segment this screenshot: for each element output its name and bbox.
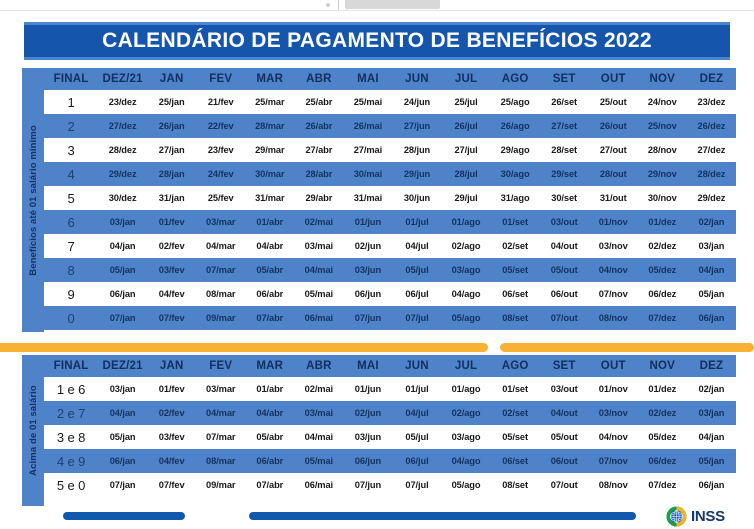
cell-final-digit: 2 [44, 114, 98, 138]
cell-final-digit: 2 e 7 [44, 401, 98, 425]
cell-payment-date: 26/ago [491, 114, 540, 138]
cell-payment-date: 03/jan [98, 377, 147, 401]
cell-payment-date: 07/mar [196, 425, 245, 449]
cell-payment-date: 30/set [540, 186, 589, 210]
cell-payment-date: 31/mai [343, 186, 392, 210]
table-row: 2 e 704/jan02/fev04/mar04/abr03/mai02/ju… [44, 401, 736, 425]
cell-payment-date: 05/jul [392, 425, 441, 449]
cell-payment-date: 03/jan [687, 234, 736, 258]
cell-payment-date: 30/mar [245, 162, 294, 186]
divider-bars [0, 343, 754, 353]
cell-payment-date: 04/jan [687, 425, 736, 449]
table-header-row: FINAL DEZ/21 JAN FEV MAR ABR MAI JUN JUL… [44, 68, 736, 90]
cell-payment-date: 03/jun [343, 258, 392, 282]
column-header-jan: JAN [147, 355, 196, 377]
cell-payment-date: 30/dez [98, 186, 147, 210]
cell-payment-date: 04/jan [687, 258, 736, 282]
cell-payment-date: 29/abr [294, 186, 343, 210]
table-row: 5 e 007/jan07/fev09/mar07/abr06/mai07/ju… [44, 473, 736, 497]
column-header-mar: MAR [245, 68, 294, 90]
cell-payment-date: 03/mar [196, 377, 245, 401]
cell-payment-date: 06/mai [294, 473, 343, 497]
cell-payment-date: 01/ago [442, 377, 491, 401]
column-header-jul: JUL [442, 355, 491, 377]
column-header-set: SET [540, 68, 589, 90]
cell-payment-date: 04/abr [245, 401, 294, 425]
cell-payment-date: 08/mar [196, 282, 245, 306]
side-label-text: Acima de 01 salário [28, 385, 39, 476]
cell-final-digit: 5 [44, 186, 98, 210]
cell-payment-date: 21/fev [196, 90, 245, 114]
cell-payment-date: 27/abr [294, 138, 343, 162]
cell-payment-date: 02/set [491, 234, 540, 258]
cell-payment-date: 01/jun [343, 210, 392, 234]
column-header-jul: JUL [442, 68, 491, 90]
inss-globe-icon [666, 506, 687, 527]
cell-payment-date: 28/jan [147, 162, 196, 186]
cell-final-digit: 3 [44, 138, 98, 162]
title-banner: CALENDÁRIO DE PAGAMENTO DE BENEFÍCIOS 20… [24, 22, 730, 60]
cell-payment-date: 06/out [540, 282, 589, 306]
cell-payment-date: 29/jul [442, 186, 491, 210]
cell-payment-date: 04/fev [147, 282, 196, 306]
divider-bar-left [0, 343, 488, 352]
cell-payment-date: 07/fev [147, 473, 196, 497]
cell-payment-date: 03/out [540, 210, 589, 234]
cell-payment-date: 30/jun [392, 186, 441, 210]
cell-payment-date: 05/abr [245, 425, 294, 449]
cell-payment-date: 04/mar [196, 401, 245, 425]
cell-payment-date: 25/jul [442, 90, 491, 114]
cell-payment-date: 02/fev [147, 234, 196, 258]
calendar-table-1: FINAL DEZ/21 JAN FEV MAR ABR MAI JUN JUL… [44, 68, 736, 330]
cell-payment-date: 03/nov [589, 234, 638, 258]
cell-payment-date: 25/abr [294, 90, 343, 114]
cell-payment-date: 23/fev [196, 138, 245, 162]
cell-payment-date: 03/fev [147, 425, 196, 449]
cell-payment-date: 26/mai [343, 114, 392, 138]
cell-payment-date: 07/jun [343, 306, 392, 330]
column-header-final: FINAL [44, 355, 98, 377]
table-row: 123/dez25/jan21/fev25/mar25/abr25/mai24/… [44, 90, 736, 114]
table-row: 805/jan03/fev07/mar05/abr04/mai03/jun05/… [44, 258, 736, 282]
cell-payment-date: 02/dez [638, 401, 687, 425]
inss-logo: INSS [666, 506, 725, 527]
table-row: 429/dez28/jan24/fev30/mar28/abr30/mai29/… [44, 162, 736, 186]
cell-payment-date: 24/jun [392, 90, 441, 114]
cell-payment-date: 07/dez [638, 473, 687, 497]
cell-payment-date: 28/jun [392, 138, 441, 162]
cell-final-digit: 1 e 6 [44, 377, 98, 401]
cell-payment-date: 06/jan [98, 282, 147, 306]
cell-payment-date: 26/out [589, 114, 638, 138]
cell-payment-date: 05/out [540, 425, 589, 449]
cell-payment-date: 03/fev [147, 258, 196, 282]
cell-payment-date: 27/jul [442, 138, 491, 162]
column-header-abr: ABR [294, 68, 343, 90]
cell-payment-date: 02/ago [442, 234, 491, 258]
column-header-jun: JUN [392, 355, 441, 377]
cell-payment-date: 04/ago [442, 282, 491, 306]
cell-payment-date: 02/jun [343, 401, 392, 425]
column-header-mai: MAI [343, 68, 392, 90]
cell-payment-date: 06/dez [638, 282, 687, 306]
cell-payment-date: 28/abr [294, 162, 343, 186]
cell-payment-date: 03/mai [294, 401, 343, 425]
cell-payment-date: 07/out [540, 473, 589, 497]
cell-payment-date: 26/jan [147, 114, 196, 138]
cell-payment-date: 04/fev [147, 449, 196, 473]
cell-payment-date: 27/dez [687, 138, 736, 162]
cell-payment-date: 06/jan [98, 449, 147, 473]
cell-payment-date: 04/mai [294, 258, 343, 282]
cell-payment-date: 01/nov [589, 210, 638, 234]
calendar-poster: CALENDÁRIO DE PAGAMENTO DE BENEFÍCIOS 20… [0, 12, 754, 529]
cell-final-digit: 6 [44, 210, 98, 234]
cell-payment-date: 25/out [589, 90, 638, 114]
cell-payment-date: 02/jan [687, 210, 736, 234]
cell-payment-date: 04/jul [392, 234, 441, 258]
cell-payment-date: 07/jan [98, 306, 147, 330]
cell-payment-date: 05/out [540, 258, 589, 282]
cell-payment-date: 01/dez [638, 377, 687, 401]
cell-payment-date: 04/ago [442, 449, 491, 473]
cell-payment-date: 07/nov [589, 282, 638, 306]
cell-payment-date: 03/nov [589, 401, 638, 425]
cell-payment-date: 28/set [540, 138, 589, 162]
cell-payment-date: 29/jun [392, 162, 441, 186]
cell-payment-date: 06/jul [392, 282, 441, 306]
cell-payment-date: 01/jun [343, 377, 392, 401]
cell-payment-date: 23/dez [687, 90, 736, 114]
cell-payment-date: 29/ago [491, 138, 540, 162]
cell-payment-date: 02/mai [294, 210, 343, 234]
cell-payment-date: 28/mar [245, 114, 294, 138]
cell-payment-date: 05/mai [294, 282, 343, 306]
cell-payment-date: 04/jul [392, 401, 441, 425]
cell-payment-date: 02/jun [343, 234, 392, 258]
cell-payment-date: 01/set [491, 210, 540, 234]
cell-payment-date: 01/dez [638, 210, 687, 234]
table-row: 906/jan04/fev08/mar06/abr05/mai06/jun06/… [44, 282, 736, 306]
cell-payment-date: 05/ago [442, 306, 491, 330]
cell-payment-date: 24/fev [196, 162, 245, 186]
cell-payment-date: 27/jun [392, 114, 441, 138]
cell-payment-date: 25/fev [196, 186, 245, 210]
cell-payment-date: 06/jun [343, 449, 392, 473]
cell-final-digit: 7 [44, 234, 98, 258]
cell-payment-date: 29/dez [98, 162, 147, 186]
cell-payment-date: 05/set [491, 425, 540, 449]
cell-payment-date: 07/nov [589, 449, 638, 473]
cell-payment-date: 08/nov [589, 473, 638, 497]
cell-payment-date: 09/mar [196, 473, 245, 497]
cell-payment-date: 22/fev [196, 114, 245, 138]
table-row: 1 e 603/jan01/fev03/mar01/abr02/mai01/ju… [44, 377, 736, 401]
cell-final-digit: 8 [44, 258, 98, 282]
column-header-out: OUT [589, 68, 638, 90]
cell-payment-date: 28/out [589, 162, 638, 186]
side-label-table-1: Benefícios até 01 salário mínimo [22, 68, 44, 332]
cell-payment-date: 03/mai [294, 234, 343, 258]
cell-payment-date: 05/abr [245, 258, 294, 282]
cell-payment-date: 01/jul [392, 377, 441, 401]
cell-final-digit: 5 e 0 [44, 473, 98, 497]
cell-payment-date: 23/dez [98, 90, 147, 114]
cell-payment-date: 25/jan [147, 90, 196, 114]
cell-payment-date: 04/jan [98, 401, 147, 425]
column-header-dez: DEZ [687, 355, 736, 377]
table-row: 4 e 906/jan04/fev08/mar06/abr05/mai06/ju… [44, 449, 736, 473]
cell-payment-date: 27/jan [147, 138, 196, 162]
cell-payment-date: 05/dez [638, 258, 687, 282]
divider-bar-right [500, 343, 754, 352]
column-header-mai: MAI [343, 355, 392, 377]
cell-payment-date: 06/mai [294, 306, 343, 330]
side-label-text: Benefícios até 01 salário mínimo [28, 125, 39, 276]
cell-final-digit: 4 e 9 [44, 449, 98, 473]
table-row: 007/jan07/fev09/mar07/abr06/mai07/jun07/… [44, 306, 736, 330]
cell-payment-date: 07/out [540, 306, 589, 330]
column-header-nov: NOV [638, 68, 687, 90]
cell-payment-date: 29/mar [245, 138, 294, 162]
cell-payment-date: 01/ago [442, 210, 491, 234]
column-header-dez21: DEZ/21 [98, 68, 147, 90]
cell-payment-date: 05/jan [687, 282, 736, 306]
table-row: 3 e 805/jan03/fev07/mar05/abr04/mai03/ju… [44, 425, 736, 449]
cell-payment-date: 06/set [491, 282, 540, 306]
cell-payment-date: 04/out [540, 401, 589, 425]
column-header-set: SET [540, 355, 589, 377]
cell-payment-date: 05/jul [392, 258, 441, 282]
cell-payment-date: 03/jan [687, 401, 736, 425]
cell-payment-date: 29/nov [638, 162, 687, 186]
cell-payment-date: 25/nov [638, 114, 687, 138]
cell-payment-date: 03/ago [442, 425, 491, 449]
cell-payment-date: 01/abr [245, 377, 294, 401]
table-row: 704/jan02/fev04/mar04/abr03/mai02/jun04/… [44, 234, 736, 258]
cell-payment-date: 03/jun [343, 425, 392, 449]
column-header-dez: DEZ [687, 68, 736, 90]
cell-payment-date: 07/jul [392, 306, 441, 330]
cell-payment-date: 05/mai [294, 449, 343, 473]
side-label-table-2: Acima de 01 salário [22, 355, 44, 506]
cell-payment-date: 25/mar [245, 90, 294, 114]
cell-payment-date: 06/abr [245, 449, 294, 473]
footer-bar-left [63, 512, 185, 520]
cell-payment-date: 30/ago [491, 162, 540, 186]
cell-payment-date: 31/jan [147, 186, 196, 210]
cell-payment-date: 07/abr [245, 473, 294, 497]
chrome-divider [338, 0, 339, 10]
cell-payment-date: 25/ago [491, 90, 540, 114]
cell-payment-date: 24/nov [638, 90, 687, 114]
table-header-row: FINAL DEZ/21 JAN FEV MAR ABR MAI JUN JUL… [44, 355, 736, 377]
cell-payment-date: 05/jan [98, 425, 147, 449]
table-row: 227/dez26/jan22/fev28/mar26/abr26/mai27/… [44, 114, 736, 138]
cell-payment-date: 06/dez [638, 449, 687, 473]
cell-payment-date: 29/dez [687, 186, 736, 210]
column-header-final: FINAL [44, 68, 98, 90]
cell-payment-date: 28/jul [442, 162, 491, 186]
cell-payment-date: 30/nov [638, 186, 687, 210]
cell-payment-date: 03/ago [442, 258, 491, 282]
cell-payment-date: 07/abr [245, 306, 294, 330]
calendar-table-2: FINAL DEZ/21 JAN FEV MAR ABR MAI JUN JUL… [44, 355, 736, 497]
cell-payment-date: 05/jan [687, 449, 736, 473]
cell-payment-date: 07/jul [392, 473, 441, 497]
cell-payment-date: 28/dez [687, 162, 736, 186]
cell-payment-date: 31/mar [245, 186, 294, 210]
cell-payment-date: 04/nov [589, 425, 638, 449]
cell-payment-date: 01/nov [589, 377, 638, 401]
column-header-ago: AGO [491, 355, 540, 377]
column-header-jun: JUN [392, 68, 441, 90]
cell-payment-date: 27/mai [343, 138, 392, 162]
cell-payment-date: 03/jan [98, 210, 147, 234]
browser-chrome-strip [0, 0, 754, 11]
cell-payment-date: 02/ago [442, 401, 491, 425]
cell-payment-date: 04/mar [196, 234, 245, 258]
cell-payment-date: 08/mar [196, 449, 245, 473]
page-title: CALENDÁRIO DE PAGAMENTO DE BENEFÍCIOS 20… [102, 29, 652, 53]
cell-payment-date: 03/out [540, 377, 589, 401]
cell-payment-date: 26/abr [294, 114, 343, 138]
cell-payment-date: 09/mar [196, 306, 245, 330]
cell-payment-date: 06/jan [687, 473, 736, 497]
calendar-table-2-body: 1 e 603/jan01/fev03/mar01/abr02/mai01/ju… [44, 377, 736, 497]
browser-tab[interactable] [345, 0, 440, 9]
cell-final-digit: 3 e 8 [44, 425, 98, 449]
cell-payment-date: 04/out [540, 234, 589, 258]
cell-payment-date: 03/mar [196, 210, 245, 234]
cell-payment-date: 01/set [491, 377, 540, 401]
cell-payment-date: 02/set [491, 401, 540, 425]
cell-payment-date: 25/mai [343, 90, 392, 114]
cell-payment-date: 06/jun [343, 282, 392, 306]
cell-payment-date: 07/jan [98, 473, 147, 497]
cell-payment-date: 30/mai [343, 162, 392, 186]
cell-payment-date: 07/jun [343, 473, 392, 497]
column-header-ago: AGO [491, 68, 540, 90]
cell-payment-date: 26/jul [442, 114, 491, 138]
cell-payment-date: 01/abr [245, 210, 294, 234]
cell-payment-date: 28/dez [98, 138, 147, 162]
cell-payment-date: 06/jan [687, 306, 736, 330]
cell-payment-date: 01/fev [147, 210, 196, 234]
cell-payment-date: 06/set [491, 449, 540, 473]
cell-payment-date: 29/set [540, 162, 589, 186]
cell-payment-date: 07/fev [147, 306, 196, 330]
chrome-dot-icon [326, 3, 330, 7]
table-row: 328/dez27/jan23/fev29/mar27/abr27/mai28/… [44, 138, 736, 162]
column-header-jan: JAN [147, 68, 196, 90]
column-header-abr: ABR [294, 355, 343, 377]
footer-bar-right [249, 512, 636, 520]
cell-payment-date: 08/nov [589, 306, 638, 330]
cell-payment-date: 07/mar [196, 258, 245, 282]
cell-payment-date: 31/ago [491, 186, 540, 210]
cell-payment-date: 27/out [589, 138, 638, 162]
cell-payment-date: 04/abr [245, 234, 294, 258]
cell-final-digit: 9 [44, 282, 98, 306]
cell-payment-date: 05/ago [442, 473, 491, 497]
cell-payment-date: 04/mai [294, 425, 343, 449]
column-header-dez21: DEZ/21 [98, 355, 147, 377]
cell-payment-date: 31/out [589, 186, 638, 210]
cell-final-digit: 0 [44, 306, 98, 330]
cell-payment-date: 26/set [540, 90, 589, 114]
inss-logo-text: INSS [691, 508, 725, 525]
cell-payment-date: 02/fev [147, 401, 196, 425]
cell-payment-date: 06/abr [245, 282, 294, 306]
column-header-fev: FEV [196, 355, 245, 377]
column-header-mar: MAR [245, 355, 294, 377]
cell-payment-date: 08/set [491, 306, 540, 330]
cell-payment-date: 27/set [540, 114, 589, 138]
cell-payment-date: 02/mai [294, 377, 343, 401]
cell-payment-date: 05/dez [638, 425, 687, 449]
cell-payment-date: 08/set [491, 473, 540, 497]
column-header-nov: NOV [638, 355, 687, 377]
cell-final-digit: 1 [44, 90, 98, 114]
cell-payment-date: 06/jul [392, 449, 441, 473]
cell-payment-date: 28/nov [638, 138, 687, 162]
cell-payment-date: 05/set [491, 258, 540, 282]
cell-payment-date: 07/dez [638, 306, 687, 330]
cell-payment-date: 02/jan [687, 377, 736, 401]
table-row: 603/jan01/fev03/mar01/abr02/mai01/jun01/… [44, 210, 736, 234]
cell-payment-date: 05/jan [98, 258, 147, 282]
cell-final-digit: 4 [44, 162, 98, 186]
cell-payment-date: 01/jul [392, 210, 441, 234]
calendar-table-1-body: 123/dez25/jan21/fev25/mar25/abr25/mai24/… [44, 90, 736, 330]
cell-payment-date: 04/jan [98, 234, 147, 258]
cell-payment-date: 02/dez [638, 234, 687, 258]
cell-payment-date: 04/nov [589, 258, 638, 282]
table-row: 530/dez31/jan25/fev31/mar29/abr31/mai30/… [44, 186, 736, 210]
column-header-fev: FEV [196, 68, 245, 90]
cell-payment-date: 01/fev [147, 377, 196, 401]
column-header-out: OUT [589, 355, 638, 377]
cell-payment-date: 06/out [540, 449, 589, 473]
cell-payment-date: 27/dez [98, 114, 147, 138]
cell-payment-date: 26/dez [687, 114, 736, 138]
